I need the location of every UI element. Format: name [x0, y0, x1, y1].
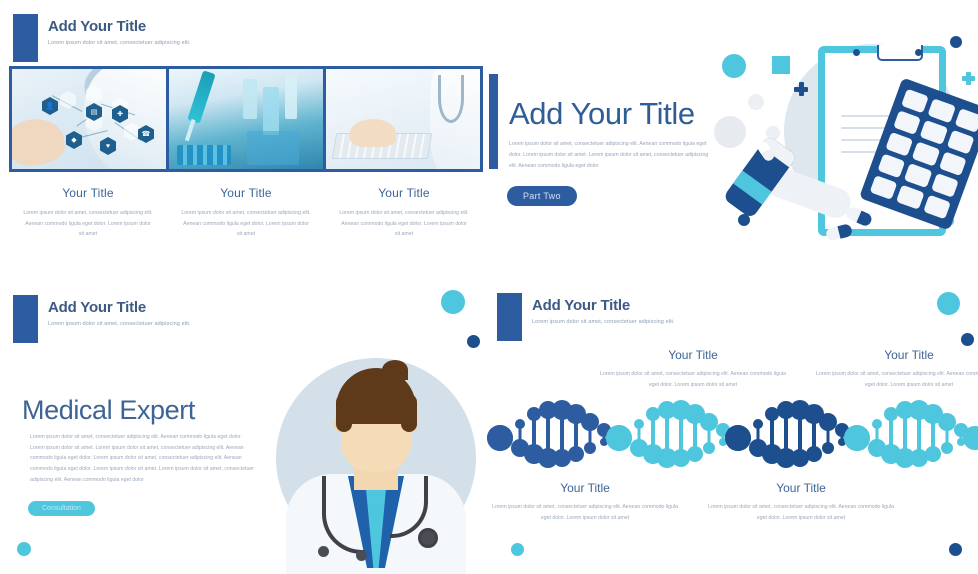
slide-gallery: Add Your Title Lorem ipsum dolor sit ame… — [0, 0, 489, 282]
user-hex-icon: 👤 — [42, 97, 58, 115]
dna-base-pair — [841, 398, 842, 478]
gallery-header-title: Add Your Title — [48, 18, 191, 36]
expert-body: Lorem ipsum dolor sit amet, consectetuer… — [30, 432, 256, 485]
dna-base-pair — [799, 398, 800, 478]
dna-header: Add Your Title Lorem ipsum dolor sit ame… — [497, 293, 675, 341]
dna-base-pair — [904, 398, 905, 478]
laboratory-pipette-photo[interactable] — [169, 69, 323, 169]
gallery-header-subtitle: Lorem ipsum dolor sit amet, consectetuer… — [48, 40, 191, 46]
dna-item-body: Lorem ipsum dolor sit amet, consectetuer… — [492, 502, 678, 523]
stethoscope-chestpiece-icon — [418, 528, 438, 548]
caption-body: Lorem ipsum dolor sit amet, consectetuer… — [339, 208, 469, 240]
dna-item-body: Lorem ipsum dolor sit amet, consectetuer… — [816, 369, 978, 390]
dna-header-title: Add Your Title — [532, 297, 675, 315]
caption-body: Lorem ipsum dolor sit amet, consectetuer… — [181, 208, 311, 240]
dna-base-pair — [575, 398, 576, 478]
dna-helix-strand — [854, 398, 978, 478]
caption-title: Your Title — [339, 186, 469, 200]
dna-item-body: Lorem ipsum dolor sit amet, consectetuer… — [600, 369, 786, 390]
heart-hex-icon: ♥ — [100, 137, 116, 155]
caption-item: Your Title Lorem ipsum dolor sit amet, c… — [325, 186, 483, 240]
dna-base-pair — [561, 398, 562, 478]
decorative-circle-cyan — [722, 54, 746, 78]
dna-base-pair — [708, 398, 709, 478]
section-accent-bar — [489, 74, 498, 169]
dna-base-pair — [722, 398, 723, 478]
dna-base-pair — [918, 398, 919, 478]
doctor-avatar-stethoscope-illustration — [262, 336, 490, 564]
header-accent-bar — [497, 293, 522, 341]
decorative-circle-gray — [714, 116, 746, 148]
dna-base-pair — [876, 398, 877, 478]
medical-cross-icon-navy — [794, 82, 808, 96]
caption-title: Your Title — [181, 186, 311, 200]
dna-item-title: Your Title — [816, 348, 978, 362]
gallery-header: Add Your Title Lorem ipsum dolor sit ame… — [13, 14, 191, 62]
dna-base-pair — [533, 398, 534, 478]
header-accent-bar — [13, 14, 38, 62]
image-strip: 👤 ✚ ◆ ♥ ☎ ▤ — [9, 66, 483, 172]
dna-header-subtitle: Lorem ipsum dolor sit amet, consectetuer… — [532, 319, 675, 325]
dna-item-bottom-right: Your Title Lorem ipsum dolor sit amet, c… — [708, 481, 894, 523]
hair-tuft — [382, 360, 408, 380]
pill-hex-icon: ◆ — [66, 131, 82, 149]
caption-item: Your Title Lorem ipsum dolor sit amet, c… — [167, 186, 325, 240]
dna-item-title: Your Title — [492, 481, 678, 495]
dna-base-pair — [603, 398, 604, 478]
medical-cross-icon-cyan — [772, 56, 790, 74]
dna-item-body: Lorem ipsum dolor sit amet, consectetuer… — [708, 502, 894, 523]
dna-base-pair — [680, 398, 681, 478]
doctor-laptop-photo[interactable] — [326, 69, 480, 169]
medical-cross-icon-cyan — [962, 72, 975, 85]
expert-header-subtitle: Lorem ipsum dolor sit amet, consectetuer… — [48, 321, 191, 327]
dna-base-pair — [737, 398, 738, 478]
dna-base-pair — [757, 398, 758, 478]
dna-base-pair — [666, 398, 667, 478]
dna-base-pair — [890, 398, 891, 478]
decorative-circle-navy — [950, 36, 962, 48]
decorative-circle-cyan — [937, 292, 960, 315]
dna-item-bottom-left: Your Title Lorem ipsum dolor sit amet, c… — [492, 481, 678, 523]
dna-item-title: Your Title — [600, 348, 786, 362]
header-accent-bar — [13, 295, 38, 343]
section-title: Add Your Title — [509, 96, 695, 132]
dna-base-pair — [813, 398, 814, 478]
caption-title: Your Title — [23, 186, 153, 200]
dna-helix-graphic — [497, 398, 978, 478]
dna-base-pair — [547, 398, 548, 478]
dna-base-pair — [499, 398, 500, 478]
dna-base-pair — [589, 398, 590, 478]
section-body: Lorem ipsum dolor sit amet, consectetuer… — [509, 139, 714, 172]
dna-base-pair — [618, 398, 619, 478]
dna-base-pair — [932, 398, 933, 478]
slide-deck-canvas: Add Your Title Lorem ipsum dolor sit ame… — [0, 0, 978, 564]
hair-sideburn-left — [336, 394, 352, 432]
stethoscope-earpiece-left — [318, 546, 329, 557]
decorative-circle-cyan — [17, 542, 31, 556]
dna-base-pair — [960, 398, 961, 478]
dna-base-pair — [771, 398, 772, 478]
dna-base-pair — [946, 398, 947, 478]
expert-header: Add Your Title Lorem ipsum dolor sit ame… — [13, 295, 191, 343]
decorative-circle-navy — [961, 333, 974, 346]
dna-base-pair — [638, 398, 639, 478]
gallery-captions: Your Title Lorem ipsum dolor sit amet, c… — [9, 186, 483, 240]
expert-header-title: Add Your Title — [48, 299, 191, 317]
stethoscope-earpiece-right — [356, 550, 367, 561]
hair-sideburn-right — [401, 394, 417, 432]
hexagon-network-overlay: 👤 ✚ ◆ ♥ ☎ ▤ — [12, 69, 166, 169]
medicine-clipboard-pills-illustration — [700, 18, 978, 280]
dna-item-title: Your Title — [708, 481, 894, 495]
dna-base-pair — [785, 398, 786, 478]
dna-item-top-left: Your Title Lorem ipsum dolor sit amet, c… — [600, 348, 786, 390]
decorative-circle-cyan — [511, 543, 524, 556]
doctor-hexagon-network-photo[interactable]: 👤 ✚ ◆ ♥ ☎ ▤ — [12, 69, 166, 169]
decorative-circle-navy — [467, 335, 480, 348]
consultation-button[interactable]: Consultation — [28, 501, 95, 516]
dna-base-pair — [856, 398, 857, 478]
dna-base-pair — [652, 398, 653, 478]
decorative-pill-gray — [748, 94, 764, 110]
dna-base-pair — [694, 398, 695, 478]
dna-base-pair — [827, 398, 828, 478]
dna-base-pair — [974, 398, 975, 478]
decorative-circle-cyan — [441, 290, 465, 314]
dna-base-pair — [519, 398, 520, 478]
decorative-circle-navy — [949, 543, 962, 556]
caption-item: Your Title Lorem ipsum dolor sit amet, c… — [9, 186, 167, 240]
expert-title: Medical Expert — [22, 395, 195, 426]
dna-item-top-right: Your Title Lorem ipsum dolor sit amet, c… — [816, 348, 978, 390]
part-two-button[interactable]: Part Two — [507, 186, 577, 206]
caption-body: Lorem ipsum dolor sit amet, consectetuer… — [23, 208, 153, 240]
